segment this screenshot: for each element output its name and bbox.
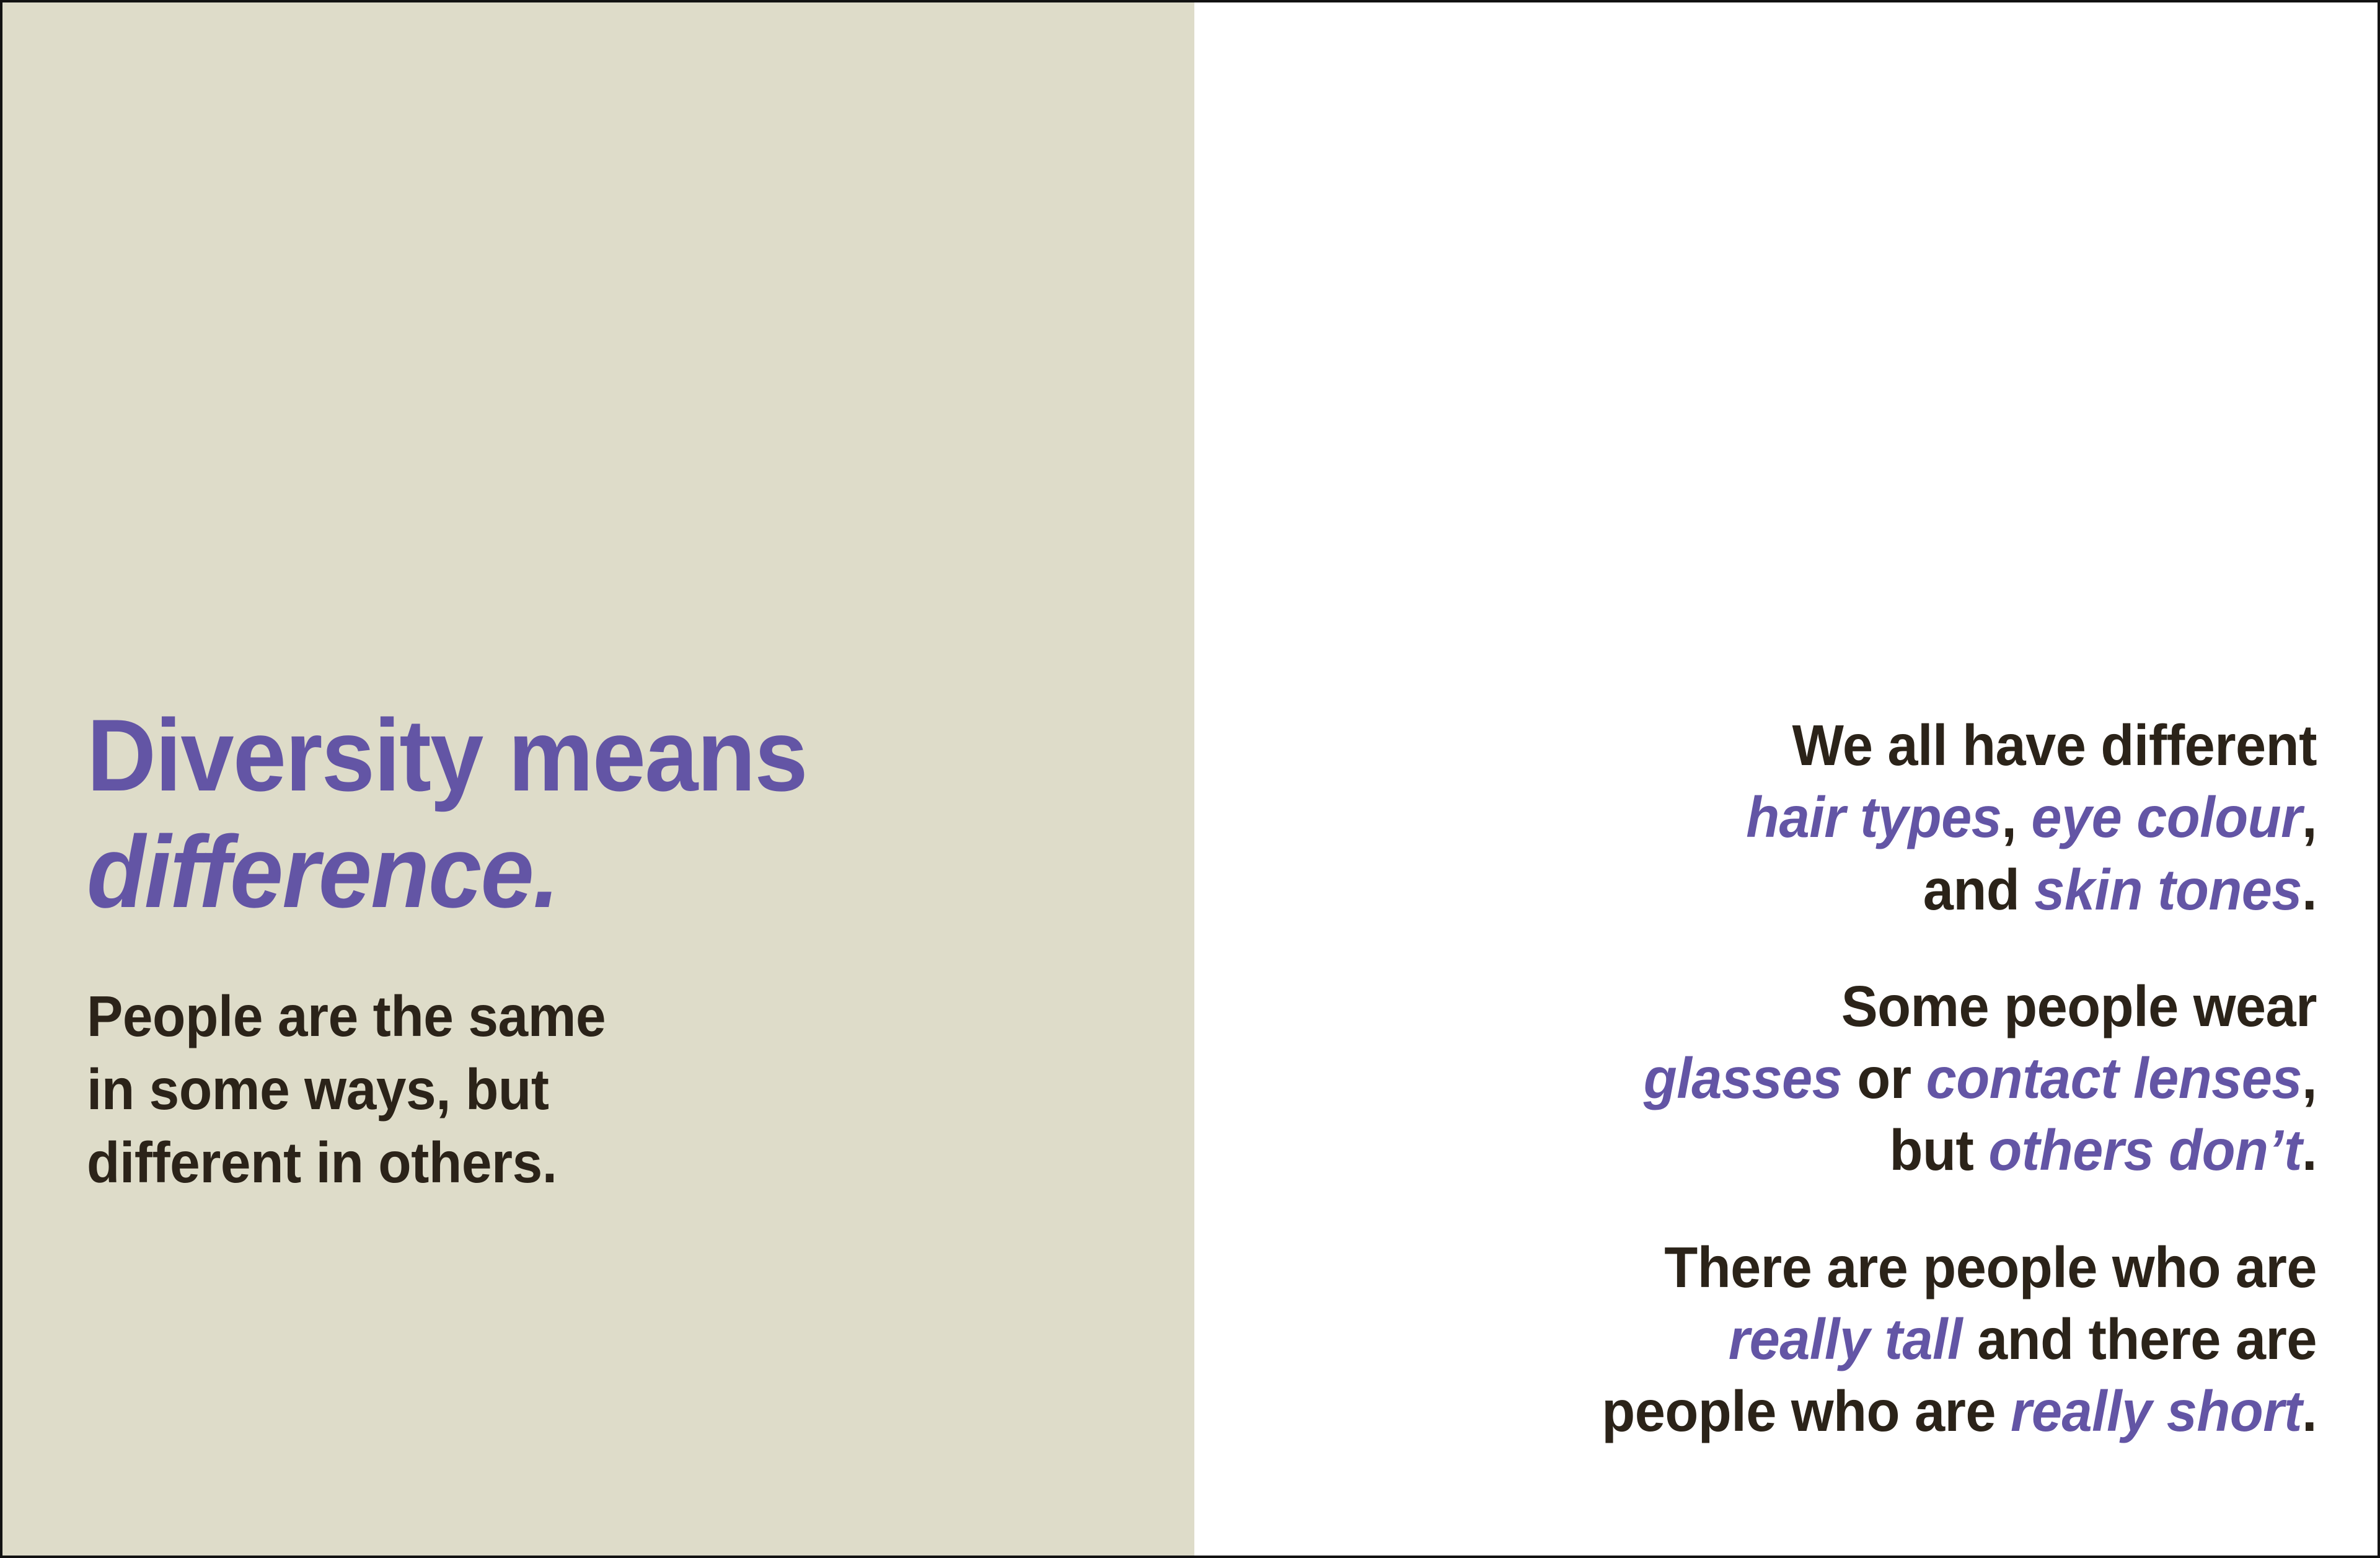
text-run: and there are: [1962, 1307, 2317, 1371]
text-run: ,: [2302, 785, 2317, 849]
text-run: but: [1890, 1118, 1989, 1182]
text-run: and: [1923, 857, 2035, 922]
text-run: There are people who are: [1664, 1235, 2317, 1299]
right-paragraph-line: Some people wear: [1398, 970, 2317, 1042]
highlighted-term: hair types: [1746, 785, 2001, 849]
text-run: people who are: [1602, 1379, 2011, 1443]
text-run: ,: [2302, 1046, 2317, 1110]
left-body-text: People are the same in some ways, but di…: [87, 980, 902, 1199]
text-run: .: [2302, 1118, 2317, 1182]
right-text-block: We all have differenthair types, eye col…: [1350, 709, 2317, 1447]
right-paragraph-line: really tall and there are: [1398, 1303, 2317, 1375]
text-run: .: [2302, 1379, 2317, 1443]
text-run: or: [1842, 1046, 1926, 1110]
highlighted-term: skin tones: [2034, 857, 2302, 922]
highlighted-term: eye colour: [2031, 785, 2302, 849]
highlighted-term: others don’t: [1988, 1118, 2302, 1182]
text-run: We all have different: [1792, 713, 2317, 777]
right-paragraph-line: people who are really short.: [1398, 1375, 2317, 1447]
headline-line-2-italic: difference.: [87, 813, 902, 930]
highlighted-term: really tall: [1729, 1307, 1962, 1371]
right-paragraph-line: but others don’t.: [1398, 1114, 2317, 1186]
right-paragraph-line: We all have different: [1398, 709, 2317, 781]
left-text-block: Diversity means difference. People are t…: [87, 697, 954, 1200]
right-paragraph-line: There are people who are: [1398, 1231, 2317, 1303]
left-body-line-3: different in others.: [87, 1126, 902, 1199]
left-body-line-1: People are the same: [87, 980, 902, 1053]
page-title: Diversity means difference.: [87, 697, 902, 930]
highlighted-term: contact lenses: [1926, 1046, 2302, 1110]
right-paragraph: Some people wearglasses or contact lense…: [1398, 970, 2317, 1187]
left-body-line-2: in some ways, but: [87, 1053, 902, 1126]
highlighted-term: glasses: [1644, 1046, 1842, 1110]
book-spread: Diversity means difference. People are t…: [0, 0, 2380, 1558]
right-paragraph-line: and skin tones.: [1398, 854, 2317, 926]
text-run: Some people wear: [1841, 974, 2317, 1038]
text-run: .: [2302, 857, 2317, 922]
right-page: We all have differenthair types, eye col…: [1194, 2, 2378, 1556]
right-paragraph: We all have differenthair types, eye col…: [1398, 709, 2317, 926]
right-paragraph-line: hair types, eye colour,: [1398, 781, 2317, 853]
highlighted-term: really short: [2011, 1379, 2302, 1443]
headline-line-1: Diversity means: [87, 698, 807, 812]
right-paragraph-line: glasses or contact lenses,: [1398, 1042, 2317, 1114]
left-page: Diversity means difference. People are t…: [2, 2, 1194, 1556]
right-paragraph: There are people who arereally tall and …: [1398, 1231, 2317, 1448]
text-run: ,: [2001, 785, 2031, 849]
